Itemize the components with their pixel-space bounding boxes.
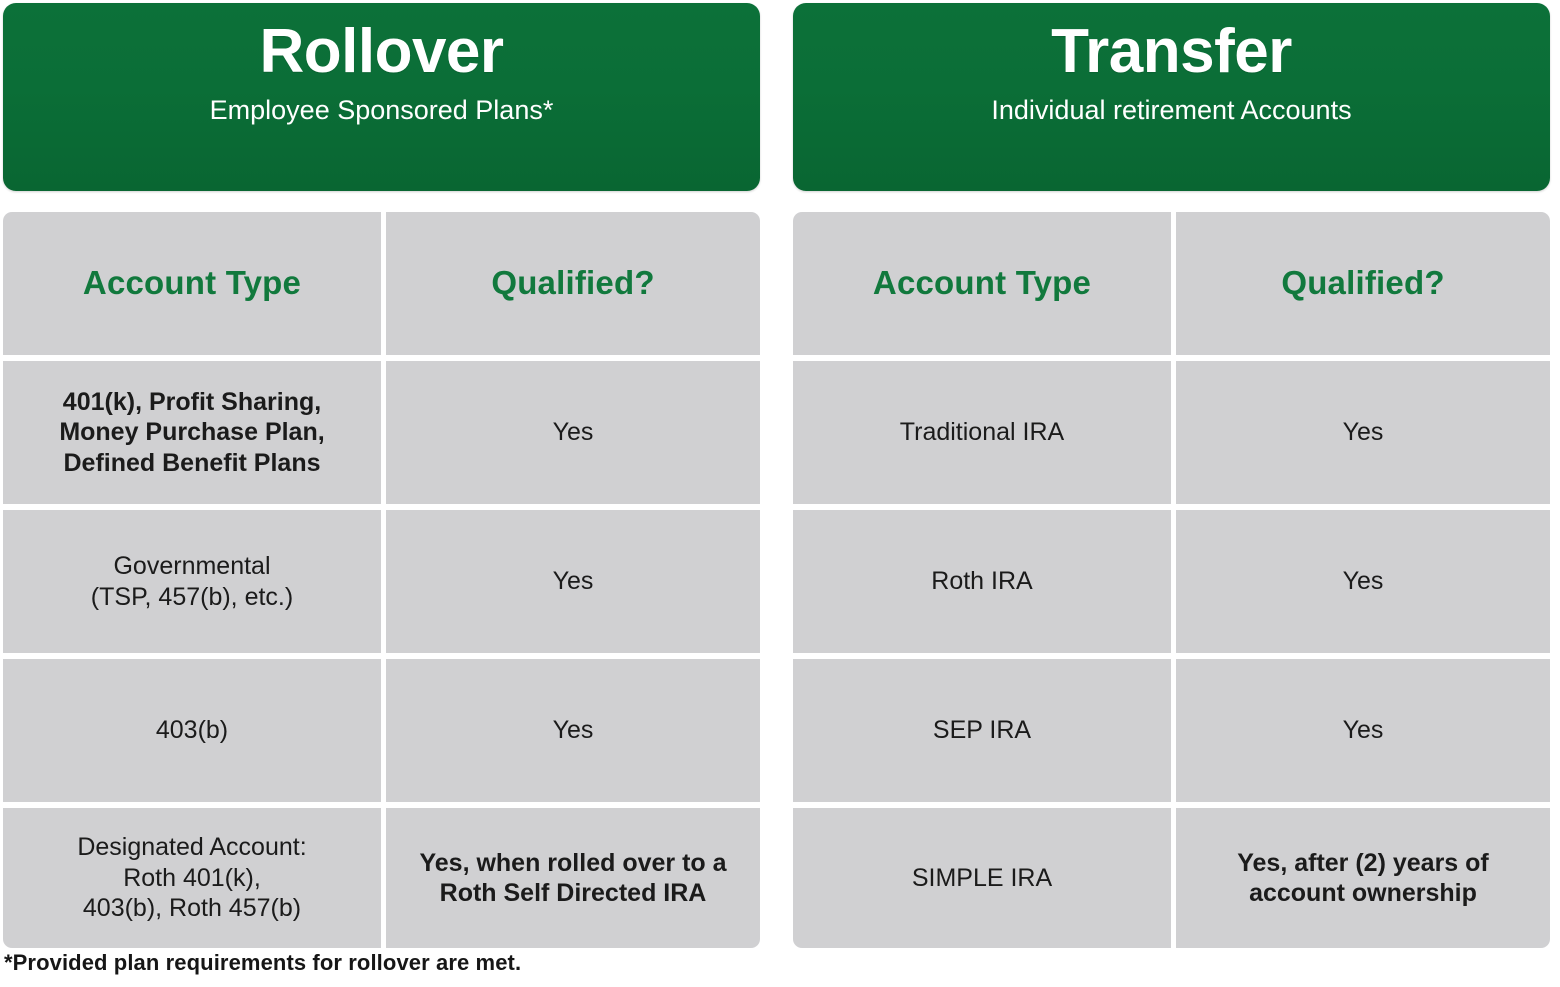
cell-account-type: Roth IRA bbox=[931, 566, 1032, 597]
table-rollover: Account Type Qualified? 401(k), Profit S… bbox=[3, 212, 760, 932]
cell-account-type: SIMPLE IRA bbox=[912, 863, 1052, 894]
cell-qualified: Yes bbox=[553, 715, 594, 746]
cell-account-type: 403(b) bbox=[156, 715, 228, 746]
footnote: *Provided plan requirements for rollover… bbox=[4, 950, 521, 976]
table-row: Yes bbox=[1176, 510, 1550, 653]
column-header-label: Account Type bbox=[83, 263, 301, 303]
comparison-board: Rollover Employee Sponsored Plans* Accou… bbox=[0, 0, 1560, 987]
cell-qualified: Yes bbox=[1343, 566, 1384, 597]
column-header-qualified-rollover: Qualified? bbox=[386, 212, 760, 355]
cell-account-type: SEP IRA bbox=[933, 715, 1031, 746]
banner-subtitle-rollover: Employee Sponsored Plans* bbox=[210, 95, 554, 126]
banner-title-transfer: Transfer bbox=[1051, 21, 1292, 83]
table-row: Yes bbox=[386, 361, 760, 504]
column-header-label: Qualified? bbox=[1281, 263, 1444, 303]
table-row: Yes bbox=[386, 659, 760, 802]
column-header-account-type-transfer: Account Type bbox=[793, 212, 1171, 355]
table-transfer: Account Type Qualified? Traditional IRA … bbox=[793, 212, 1550, 932]
cell-account-type: Traditional IRA bbox=[900, 417, 1064, 448]
column-header-account-type-rollover: Account Type bbox=[3, 212, 381, 355]
table-row: SIMPLE IRA bbox=[793, 808, 1171, 948]
column-header-label: Account Type bbox=[873, 263, 1091, 303]
panel-transfer: Transfer Individual retirement Accounts … bbox=[793, 0, 1550, 935]
banner-title-rollover: Rollover bbox=[259, 21, 503, 83]
cell-qualified: Yes, after (2) years of account ownershi… bbox=[1237, 848, 1489, 909]
column-header-qualified-transfer: Qualified? bbox=[1176, 212, 1550, 355]
cell-qualified: Yes bbox=[1343, 417, 1384, 448]
banner-subtitle-transfer: Individual retirement Accounts bbox=[991, 95, 1351, 126]
table-row: Yes bbox=[1176, 659, 1550, 802]
panel-rollover: Rollover Employee Sponsored Plans* Accou… bbox=[3, 0, 760, 935]
cell-account-type: 401(k), Profit Sharing, Money Purchase P… bbox=[59, 387, 324, 479]
cell-qualified: Yes bbox=[553, 566, 594, 597]
table-row: Yes bbox=[386, 510, 760, 653]
column-header-label: Qualified? bbox=[491, 263, 654, 303]
cell-qualified: Yes, when rolled over to a Roth Self Dir… bbox=[419, 848, 726, 909]
cell-account-type: Designated Account: Roth 401(k), 403(b),… bbox=[77, 832, 306, 924]
table-row: Yes bbox=[1176, 361, 1550, 504]
table-row: Roth IRA bbox=[793, 510, 1171, 653]
table-row: Designated Account: Roth 401(k), 403(b),… bbox=[3, 808, 381, 948]
cell-qualified: Yes bbox=[553, 417, 594, 448]
table-row: SEP IRA bbox=[793, 659, 1171, 802]
table-row: Governmental (TSP, 457(b), etc.) bbox=[3, 510, 381, 653]
table-row: 401(k), Profit Sharing, Money Purchase P… bbox=[3, 361, 381, 504]
table-row: 403(b) bbox=[3, 659, 381, 802]
cell-qualified: Yes bbox=[1343, 715, 1384, 746]
cell-account-type: Governmental (TSP, 457(b), etc.) bbox=[91, 551, 293, 612]
table-row: Yes, when rolled over to a Roth Self Dir… bbox=[386, 808, 760, 948]
banner-transfer: Transfer Individual retirement Accounts bbox=[793, 3, 1550, 191]
table-row: Traditional IRA bbox=[793, 361, 1171, 504]
table-row: Yes, after (2) years of account ownershi… bbox=[1176, 808, 1550, 948]
banner-rollover: Rollover Employee Sponsored Plans* bbox=[3, 3, 760, 191]
